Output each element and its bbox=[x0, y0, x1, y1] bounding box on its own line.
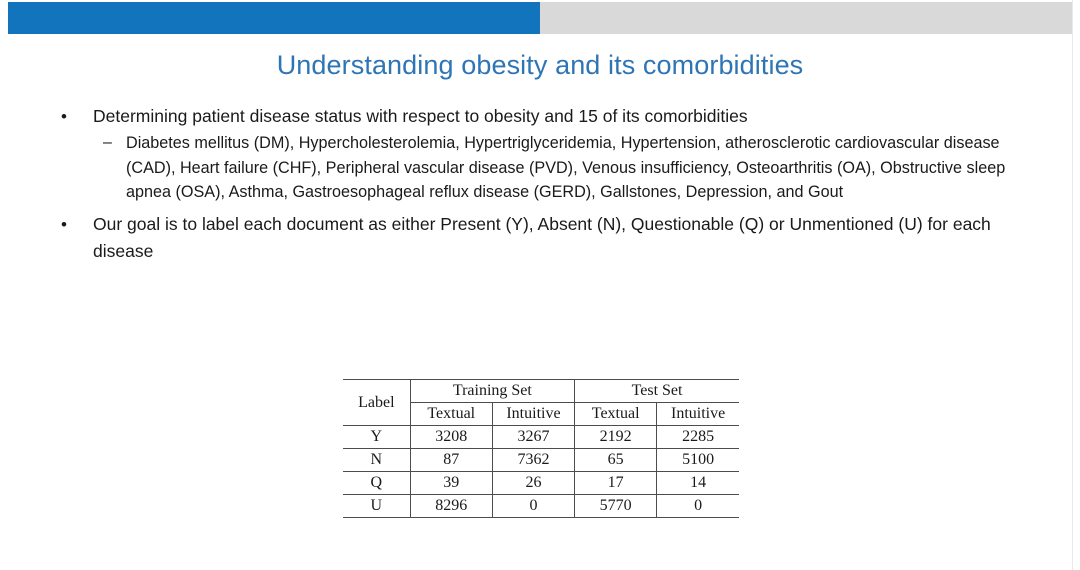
table-header-group-training: Training Set bbox=[410, 380, 574, 403]
table-row: Q 39 26 17 14 bbox=[343, 472, 739, 495]
table-cell-value: 17 bbox=[575, 472, 657, 495]
table-header-test-intuitive: Intuitive bbox=[657, 403, 739, 426]
table-cell-value: 8296 bbox=[410, 495, 492, 518]
table-cell-value: 87 bbox=[410, 449, 492, 472]
bullet-item-3-text: Our goal is to label each document as ei… bbox=[93, 211, 993, 265]
bullet-marker-icon: • bbox=[61, 211, 67, 238]
table-header-training-textual: Textual bbox=[410, 403, 492, 426]
table-cell-value: 2192 bbox=[575, 426, 657, 449]
statistics-table-container: Label Training Set Test Set Textual Intu… bbox=[343, 379, 739, 518]
table-cell-value: 65 bbox=[575, 449, 657, 472]
table-header-training-intuitive: Intuitive bbox=[492, 403, 574, 426]
table-header-group-test: Test Set bbox=[575, 380, 739, 403]
page-edge-right bbox=[1072, 0, 1080, 570]
bullet-marker-icon: • bbox=[61, 103, 67, 130]
header-decoration-bars bbox=[8, 2, 1073, 34]
table-cell-value: 3208 bbox=[410, 426, 492, 449]
table-cell-label: Q bbox=[343, 472, 410, 495]
bullet-item-2-text: Diabetes mellitus (DM), Hypercholesterol… bbox=[126, 131, 1006, 205]
table-cell-value: 14 bbox=[657, 472, 739, 495]
table-row: N 87 7362 65 5100 bbox=[343, 449, 739, 472]
table-cell-value: 0 bbox=[492, 495, 574, 518]
table-cell-value: 26 bbox=[492, 472, 574, 495]
bullet-item-3: • Our goal is to label each document as … bbox=[0, 211, 1080, 265]
table-header: Label Training Set Test Set Textual Intu… bbox=[343, 380, 739, 426]
table-cell-value: 39 bbox=[410, 472, 492, 495]
table-cell-value: 0 bbox=[657, 495, 739, 518]
bullet-item-1-text: Determining patient disease status with … bbox=[93, 103, 993, 130]
dash-marker-icon: – bbox=[103, 131, 112, 156]
table-cell-value: 3267 bbox=[492, 426, 574, 449]
table-row: Y 3208 3267 2192 2285 bbox=[343, 426, 739, 449]
table-cell-value: 5100 bbox=[657, 449, 739, 472]
statistics-table: Label Training Set Test Set Textual Intu… bbox=[343, 379, 739, 518]
table-cell-label: U bbox=[343, 495, 410, 518]
table-cell-value: 2285 bbox=[657, 426, 739, 449]
bullet-item-1: • Determining patient disease status wit… bbox=[0, 103, 1080, 130]
table-row: U 8296 0 5770 0 bbox=[343, 495, 739, 518]
bullet-item-2: – Diabetes mellitus (DM), Hypercholester… bbox=[0, 131, 1080, 205]
slide-body: • Determining patient disease status wit… bbox=[0, 103, 1080, 266]
table-header-label: Label bbox=[343, 380, 410, 426]
slide-title: Understanding obesity and its comorbidit… bbox=[0, 48, 1080, 82]
table-cell-label: N bbox=[343, 449, 410, 472]
table-cell-value: 5770 bbox=[575, 495, 657, 518]
header-bar-blue bbox=[8, 2, 540, 34]
table-cell-value: 7362 bbox=[492, 449, 574, 472]
slide-canvas: Understanding obesity and its comorbidit… bbox=[0, 0, 1080, 570]
header-bar-gray bbox=[540, 2, 1073, 34]
table-cell-label: Y bbox=[343, 426, 410, 449]
table-header-test-textual: Textual bbox=[575, 403, 657, 426]
table-header-row-groups: Label Training Set Test Set bbox=[343, 380, 739, 403]
table-body: Y 3208 3267 2192 2285 N 87 7362 65 5100 … bbox=[343, 426, 739, 518]
